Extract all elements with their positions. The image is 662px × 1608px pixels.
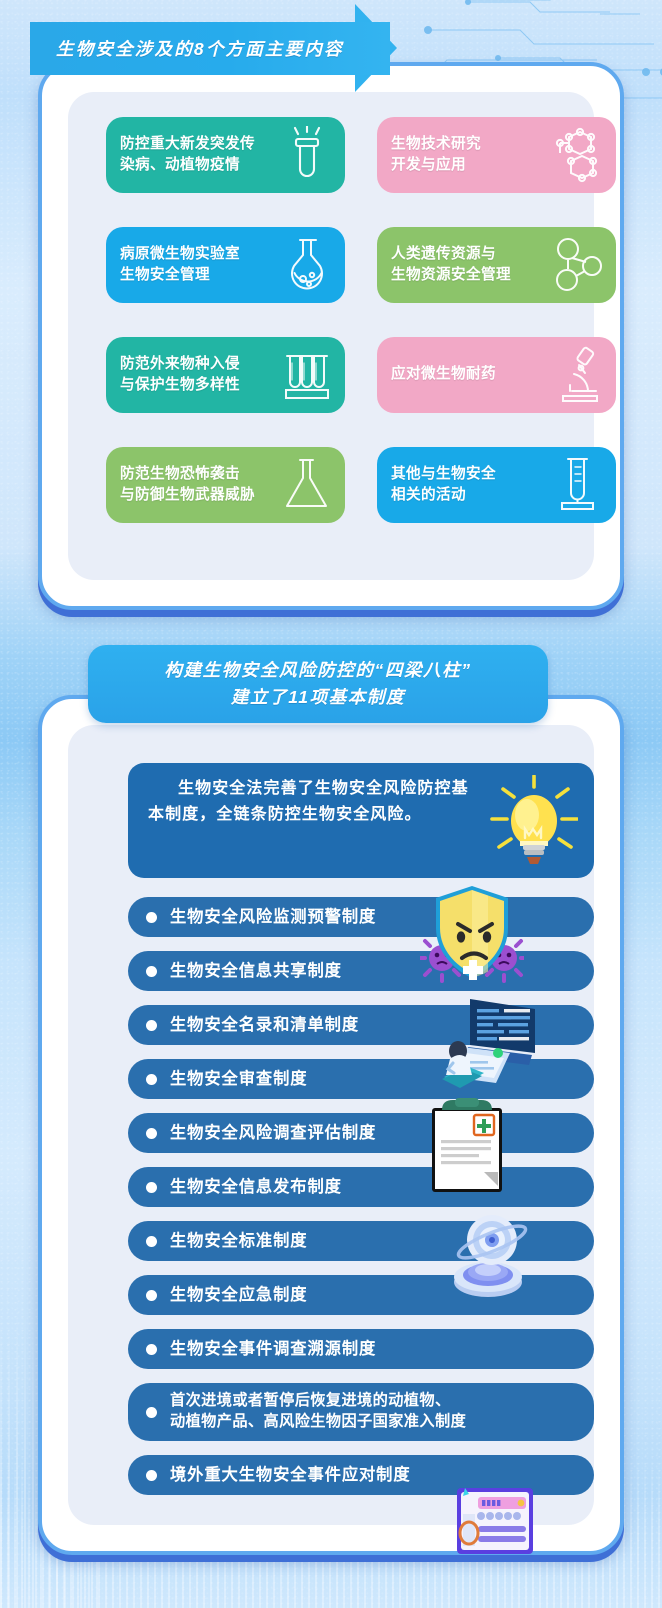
list-item[interactable]: 生物安全风险监测预警制度 — [128, 897, 594, 937]
bullet-icon — [146, 1020, 157, 1031]
card-label: 防范生物恐怖袭击 与防御生物武器威胁 — [120, 464, 255, 506]
list-item[interactable]: 生物安全名录和清单制度 — [128, 1005, 594, 1045]
list-item-label: 境外重大生物安全事件应对制度 — [170, 1464, 411, 1486]
card-pathogen-lab-safety[interactable]: 病原微生物实验室 生物安全管理 — [106, 227, 345, 303]
list-item[interactable]: 生物安全事件调查溯源制度 — [128, 1329, 594, 1369]
card-label: 人类遗传资源与 生物资源安全管理 — [391, 244, 511, 286]
bullet-icon — [146, 912, 157, 923]
card-genetic-resources[interactable]: 人类遗传资源与 生物资源安全管理 — [377, 227, 616, 303]
bullet-icon — [146, 966, 157, 977]
erlenmeyer-flask-icon — [279, 456, 335, 514]
list-item-label: 生物安全审查制度 — [170, 1068, 307, 1090]
card-label: 其他与生物安全 相关的活动 — [391, 464, 496, 506]
section2-intro-text: 生物安全法完善了生物安全风险防控基本制度，全链条防控生物安全风险。 — [148, 776, 478, 828]
list-item[interactable]: 生物安全应急制度 — [128, 1275, 594, 1315]
test-tube-icon — [279, 126, 335, 184]
card-label: 防控重大新发突发传 染病、动植物疫情 — [120, 134, 255, 176]
section2-intro-box: 生物安全法完善了生物安全风险防控基本制度，全链条防控生物安全风险。 — [128, 763, 594, 878]
list-item[interactable]: 生物安全信息发布制度 — [128, 1167, 594, 1207]
section1-card-grid: 防控重大新发突发传 染病、动植物疫情 生物技术研究 开发与应用 — [106, 117, 616, 523]
molecule-icon — [550, 126, 606, 184]
card-label: 病原微生物实验室 生物安全管理 — [120, 244, 240, 286]
nodes-icon — [550, 236, 606, 294]
card-invasive-species[interactable]: 防范外来物种入侵 与保护生物多样性 — [106, 337, 345, 413]
lightbulb-icon — [474, 775, 578, 871]
list-item-label: 生物安全信息发布制度 — [170, 1176, 342, 1198]
section1-banner-title: 生物安全涉及的8个方面主要内容 — [56, 36, 344, 61]
list-item-label: 生物安全风险调查评估制度 — [170, 1122, 376, 1144]
section2-title-line2: 建立了11项基本制度 — [231, 684, 405, 711]
card-bioterrorism-defense[interactable]: 防范生物恐怖袭击 与防御生物武器威胁 — [106, 447, 345, 523]
list-item[interactable]: 生物安全标准制度 — [128, 1221, 594, 1261]
bullet-icon — [146, 1344, 157, 1355]
list-item-label: 生物安全标准制度 — [170, 1230, 307, 1252]
section2-title-pill: 构建生物安全风险防控的“四梁八柱” 建立了11项基本制度 — [88, 645, 548, 723]
list-item[interactable]: 生物安全审查制度 — [128, 1059, 594, 1099]
section2-panel-inner: 生物安全法完善了生物安全风险防控基本制度，全链条防控生物安全风险。 — [68, 725, 594, 1525]
card-label: 应对微生物耐药 — [391, 364, 496, 385]
section1-panel-inner: 防控重大新发突发传 染病、动植物疫情 生物技术研究 开发与应用 — [68, 92, 594, 580]
list-item[interactable]: 生物安全信息共享制度 — [128, 951, 594, 991]
bullet-icon — [146, 1074, 157, 1085]
list-item-label: 首次进境或者暂停后恢复进境的动植物、 动植物产品、高风险生物因子国家准入制度 — [170, 1391, 466, 1432]
flask-icon — [279, 236, 335, 294]
card-label: 防范外来物种入侵 与保护生物多样性 — [120, 354, 240, 396]
section1-banner: 生物安全涉及的8个方面主要内容 — [30, 22, 390, 75]
bullet-icon — [146, 1236, 157, 1247]
list-item-label: 生物安全应急制度 — [170, 1284, 307, 1306]
list-item[interactable]: 生物安全风险调查评估制度 — [128, 1113, 594, 1153]
beaker-icon — [550, 456, 606, 514]
bullet-icon — [146, 1470, 157, 1481]
bullet-icon — [146, 1128, 157, 1139]
list-item[interactable]: 首次进境或者暂停后恢复进境的动植物、 动植物产品、高风险生物因子国家准入制度 — [128, 1383, 594, 1441]
section2-title-line1: 构建生物安全风险防控的“四梁八柱” — [164, 657, 471, 684]
list-item-label: 生物安全风险监测预警制度 — [170, 906, 376, 928]
list-item-label: 生物安全信息共享制度 — [170, 960, 342, 982]
card-infectious-disease[interactable]: 防控重大新发突发传 染病、动植物疫情 — [106, 117, 345, 193]
list-item-label: 生物安全事件调查溯源制度 — [170, 1338, 376, 1360]
bullet-icon — [146, 1290, 157, 1301]
section2-panel: 生物安全法完善了生物安全风险防控基本制度，全链条防控生物安全风险。 — [38, 695, 624, 1555]
bullet-icon — [146, 1407, 157, 1418]
card-biotech-research[interactable]: 生物技术研究 开发与应用 — [377, 117, 616, 193]
list-item-label: 生物安全名录和清单制度 — [170, 1014, 359, 1036]
microscope-icon — [550, 346, 606, 404]
bullet-icon — [146, 1182, 157, 1193]
card-other-activities[interactable]: 其他与生物安全 相关的活动 — [377, 447, 616, 523]
regulation-list: 生物安全风险监测预警制度 生物安全信息共享制度 生物安全名录和清单制度 生物安全… — [128, 897, 594, 1509]
section1-panel: 防控重大新发突发传 染病、动植物疫情 生物技术研究 开发与应用 — [38, 62, 624, 610]
card-antimicrobial-resistance[interactable]: 应对微生物耐药 — [377, 337, 616, 413]
card-label: 生物技术研究 开发与应用 — [391, 134, 481, 176]
test-tube-rack-icon — [279, 346, 335, 404]
list-item[interactable]: 境外重大生物安全事件应对制度 — [128, 1455, 594, 1495]
